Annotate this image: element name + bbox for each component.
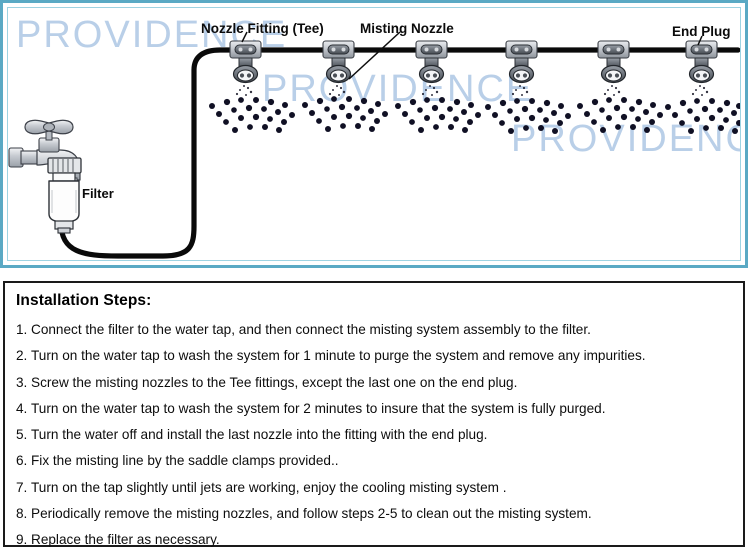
step-text: Periodically remove the misting nozzles,… (31, 501, 592, 527)
step-text: Turn on the tap slightly until jets are … (31, 475, 507, 501)
installation-step: 2.Turn on the water tap to wash the syst… (16, 343, 743, 369)
installation-step: 6.Fix the misting line by the saddle cla… (16, 448, 743, 474)
installation-steps-list: 1.Connect the filter to the water tap, a… (14, 317, 743, 554)
step-number: 1. (16, 317, 31, 343)
installation-step: 7.Turn on the tap slightly until jets ar… (16, 475, 743, 501)
misting-tubing (61, 50, 738, 256)
installation-step: 8.Periodically remove the misting nozzle… (16, 501, 743, 527)
water-filter (48, 158, 81, 233)
step-number: 4. (16, 396, 31, 422)
step-number: 5. (16, 422, 31, 448)
installation-step: 4.Turn on the water tap to wash the syst… (16, 396, 743, 422)
label-end-plug: End Plug (672, 24, 731, 39)
installation-steps-title: Installation Steps: (16, 292, 743, 310)
nozzle-assembly (416, 41, 447, 96)
step-text: Connect the filter to the water tap, and… (31, 317, 591, 343)
nozzle-assembly (506, 41, 537, 96)
installation-steps-panel: Installation Steps: 1.Connect the filter… (3, 281, 745, 547)
nozzle-assembly (230, 41, 261, 96)
step-text: Turn on the water tap to wash the system… (31, 396, 605, 422)
nozzle-assembly (323, 41, 354, 96)
end-plug-assembly (686, 41, 717, 96)
step-number: 3. (16, 370, 31, 396)
label-misting-nozzle: Misting Nozzle (360, 21, 454, 36)
installation-step: 5.Turn the water off and install the las… (16, 422, 743, 448)
label-filter: Filter (82, 186, 114, 201)
label-nozzle-fitting-tee: Nozzle Fitting (Tee) (201, 21, 324, 36)
step-text: Turn the water off and install the last … (31, 422, 487, 448)
callout-leader-lines (242, 32, 702, 79)
step-number: 8. (16, 501, 31, 527)
installation-step: 1.Connect the filter to the water tap, a… (16, 317, 743, 343)
step-number: 2. (16, 343, 31, 369)
installation-step: 3.Screw the misting nozzles to the Tee f… (16, 370, 743, 396)
diagram-canvas: PROVIDENCE PROVIDENCE PROVIDENCE (7, 7, 741, 261)
step-text: Fix the misting line by the saddle clamp… (31, 448, 339, 474)
misting-system-illustration (8, 8, 741, 261)
step-text: Screw the misting nozzles to the Tee fit… (31, 370, 517, 396)
step-number: 6. (16, 448, 31, 474)
step-text: Turn on the water tap to wash the system… (31, 343, 646, 369)
misting-system-instruction-sheet: PROVIDENCE PROVIDENCE PROVIDENCE (0, 0, 748, 550)
diagram-panel: PROVIDENCE PROVIDENCE PROVIDENCE (0, 0, 748, 268)
nozzle-assembly (598, 41, 629, 96)
step-number: 7. (16, 475, 31, 501)
mist-spray-dots (209, 96, 741, 134)
